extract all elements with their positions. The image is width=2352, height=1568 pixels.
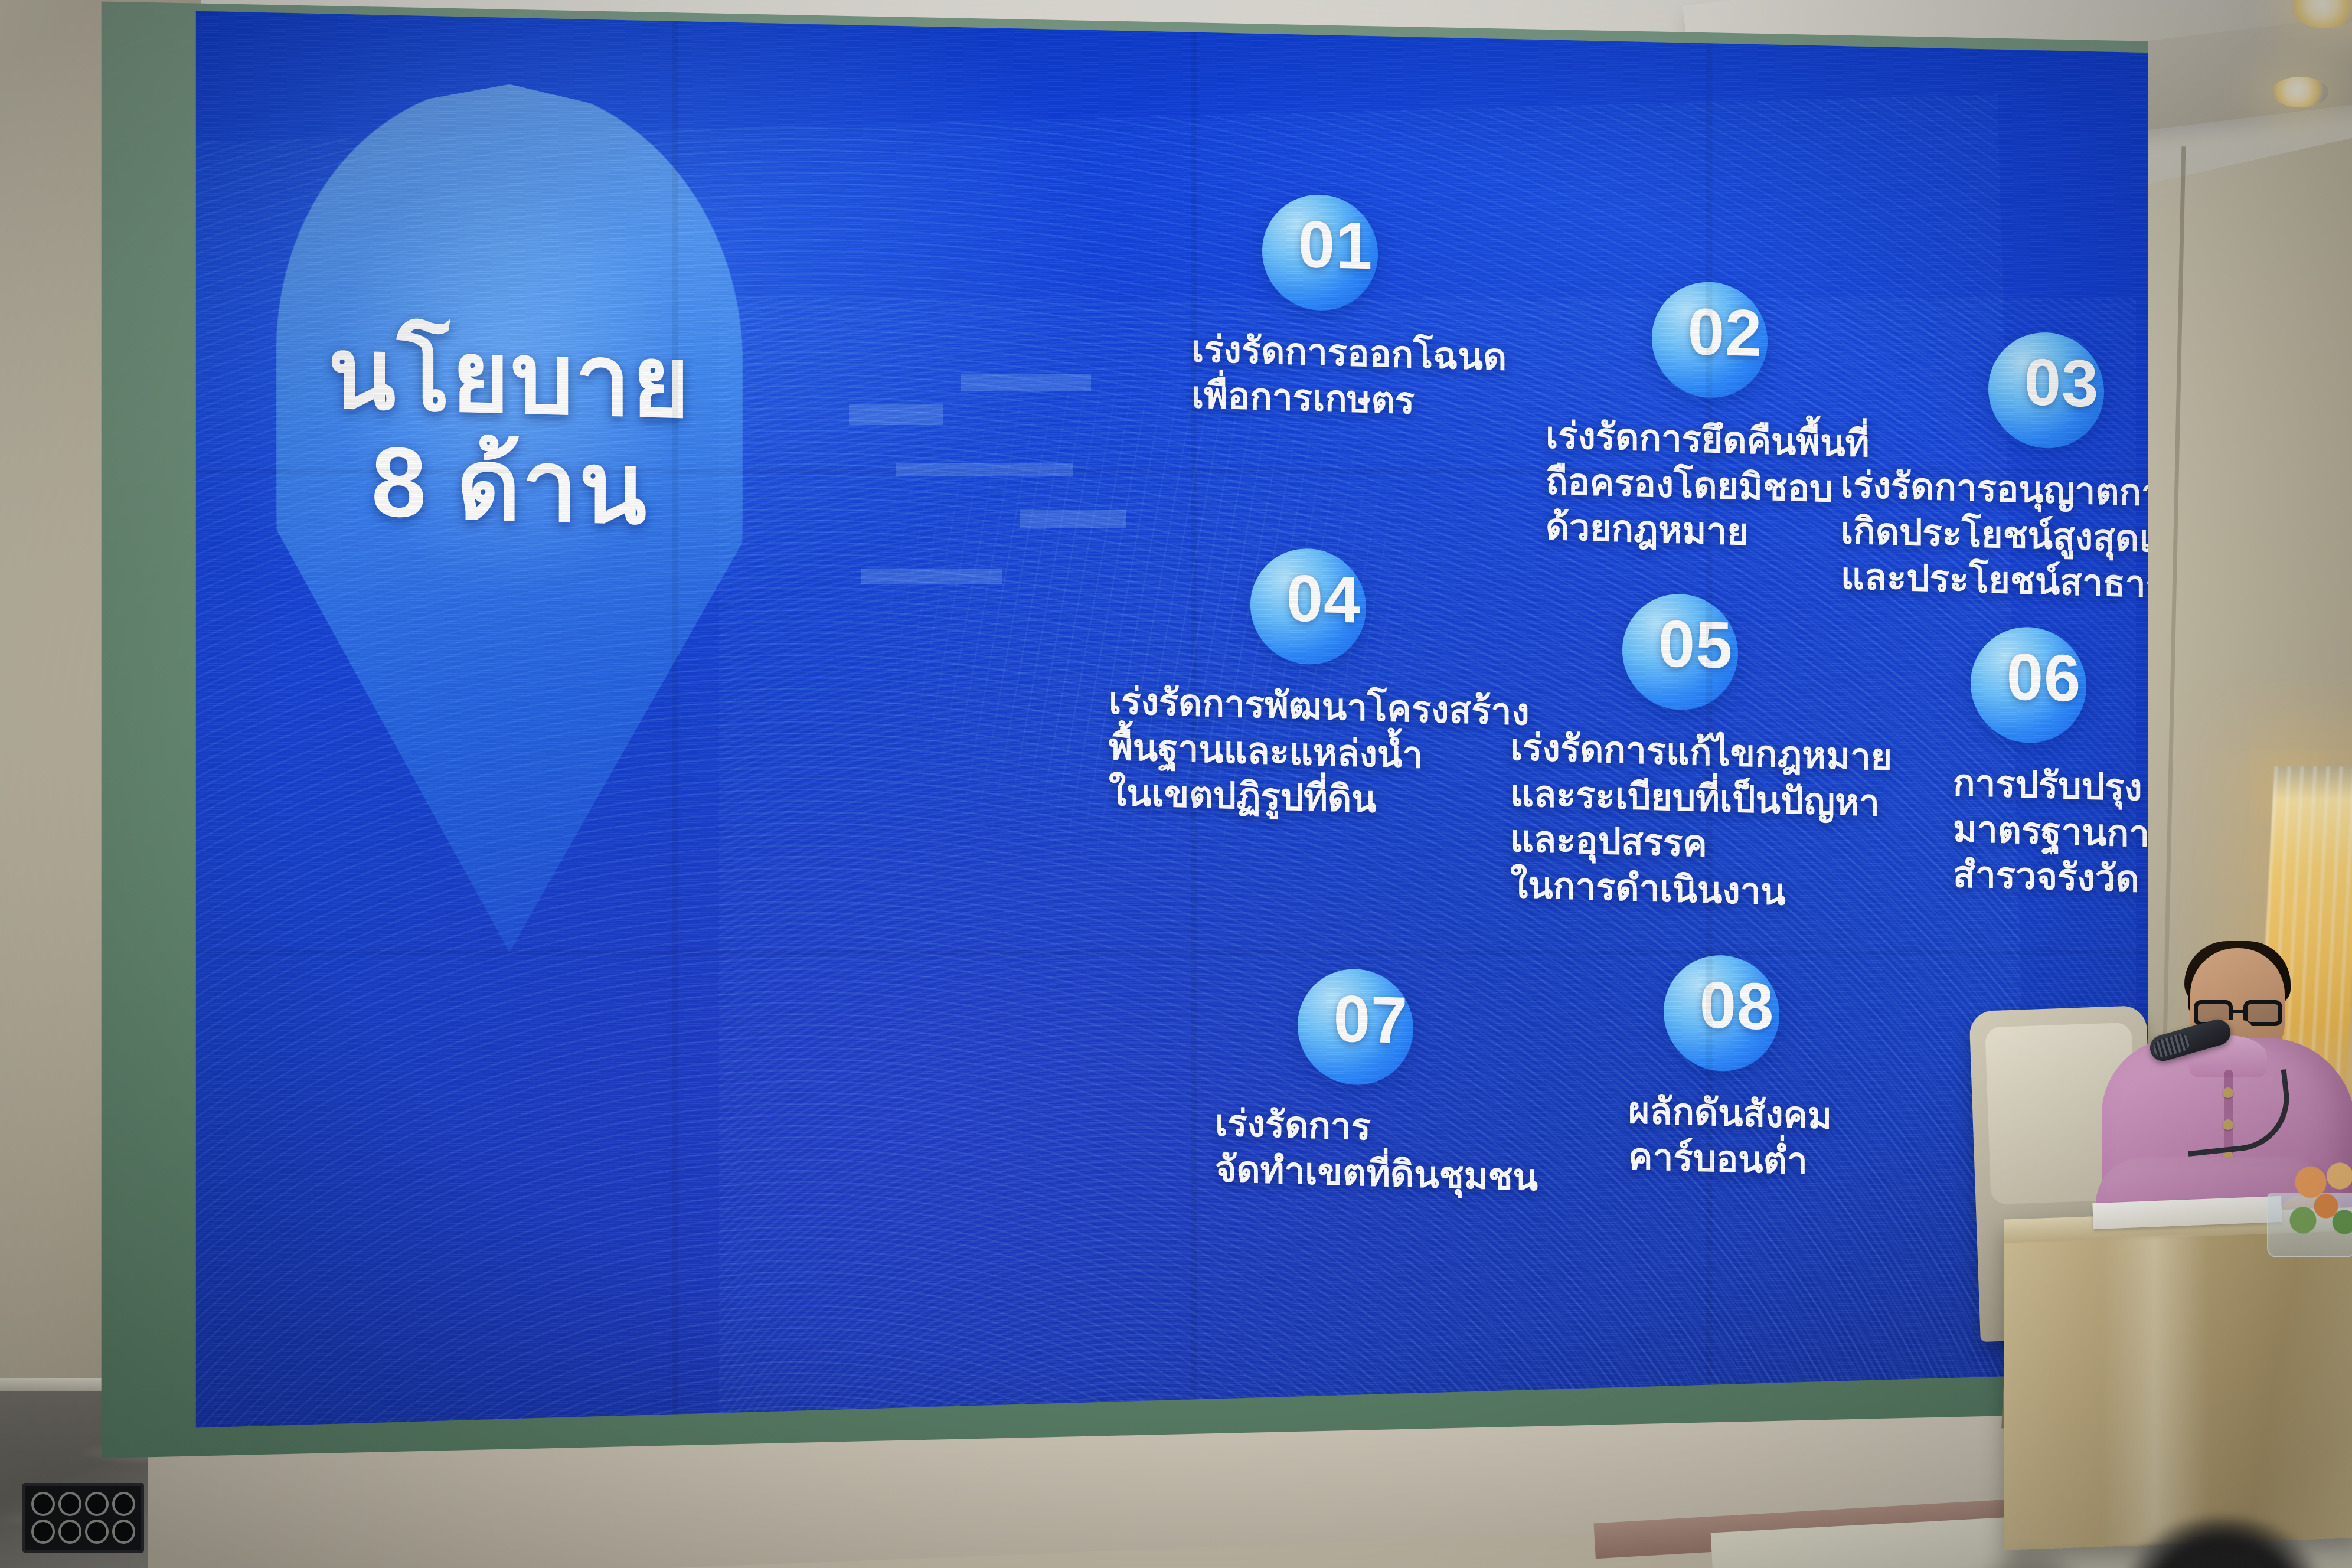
policy-text-05: เร่งรัดการแก้ไขกฎหมาย และระเบียบที่เป็นป… [1510, 726, 1892, 918]
policy-text-07: เร่งรัดการ จัดทำเขตที่ดินชุมชน [1215, 1101, 1538, 1200]
policy-text-04: เร่งรัดการพัฒนาโครงสร้าง พื้นฐานและแหล่ง… [1109, 679, 1530, 827]
policy-text-line: ด้วยกฎหมาย [1546, 505, 1870, 558]
policy-item-05: 05 เร่งรัดการแก้ไขกฎหมาย และระเบียบที่เป… [1622, 593, 1892, 918]
policy-number-bubble: 08 [1664, 954, 1779, 1073]
policy-number-bubble: 07 [1298, 968, 1413, 1086]
policy-item-04: 04 เร่งรัดการพัฒนาโครงสร้าง พื้นฐานและแห… [1250, 547, 1530, 827]
policy-text-line: การปรับปรุง [1953, 761, 2169, 812]
connector-port[interactable] [112, 1492, 136, 1516]
connector-port[interactable] [85, 1492, 109, 1516]
slide-title-line1: นโยบาย [276, 320, 743, 436]
policy-number-label: 07 [1334, 980, 1409, 1058]
policy-text-02: เร่งรัดการยึดคืนพื้นที่ ถือครองโดยมิชอบ … [1546, 413, 1870, 558]
policy-number-bubble: 01 [1262, 193, 1378, 312]
policy-text-06: การปรับปรุง มาตรฐานการ สำรวจรังวัด [1953, 761, 2169, 903]
policy-text-line: เร่งรัดการยึดคืนพื้นที่ [1546, 413, 1870, 466]
slide-title: นโยบาย 8 ด้าน [276, 320, 743, 547]
policy-number-bubble: 03 [1988, 331, 2104, 450]
policy-text-line: เร่งรัดการ [1215, 1101, 1538, 1154]
policy-number-bubble: 02 [1652, 280, 1768, 399]
flower-arrangement [2288, 1151, 2352, 1240]
policy-text-line: มาตรฐานการ [1953, 807, 2169, 858]
led-screen-frame: นโยบาย 8 ด้าน 01 เร่งรัดการออกโฉนด เพื่อ… [83, 0, 2161, 1464]
policy-text-line: คาร์บอนต่ำ [1628, 1135, 1832, 1185]
policy-text-line: ผลักดันสังคม [1628, 1089, 1832, 1139]
policy-text-08: ผลักดันสังคม คาร์บอนต่ำ [1628, 1089, 1832, 1185]
policy-number-label: 02 [1688, 293, 1763, 371]
policy-number-label: 03 [2024, 344, 2099, 422]
policy-text-line: เพื่อการเกษตร [1191, 373, 1507, 426]
conference-room-scene: นโยบาย 8 ด้าน 01 เร่งรัดการออกโฉนด เพื่อ… [0, 0, 2352, 1568]
connector-port[interactable] [58, 1492, 82, 1516]
policy-text-01: เร่งรัดการออกโฉนด เพื่อการเกษตร [1191, 327, 1507, 426]
policy-text-line: และอุปสรรค [1510, 817, 1892, 872]
policy-text-line: ถือครองโดยมิชอบ [1546, 459, 1870, 512]
policy-number-bubble: 04 [1250, 547, 1366, 666]
policy-number-bubble: 05 [1622, 593, 1738, 711]
connector-port[interactable] [85, 1520, 109, 1544]
policy-text-line: เร่งรัดการแก้ไขกฎหมาย [1510, 726, 1892, 780]
policy-number-label: 01 [1298, 205, 1373, 283]
led-screen[interactable]: นโยบาย 8 ด้าน 01 เร่งรัดการออกโฉนด เพื่อ… [188, 2, 2223, 1439]
connector-port[interactable] [58, 1520, 82, 1544]
policy-number-label: 06 [2007, 638, 2082, 716]
connector-port[interactable] [31, 1492, 55, 1516]
table-cloth-sheen [2102, 1235, 2208, 1546]
policy-item-02: 02 เร่งรัดการยึดคืนพื้นที่ ถือครองโดยมิช… [1652, 280, 1870, 558]
policy-text-line: ในการดำเนินงาน [1510, 863, 1892, 917]
policy-number-bubble: 06 [1971, 626, 2086, 744]
presentation-slide: นโยบาย 8 ด้าน 01 เร่งรัดการออกโฉนด เพื่อ… [188, 2, 2223, 1439]
connector-port[interactable] [31, 1520, 55, 1544]
policy-item-07: 07 เร่งรัดการ จัดทำเขตที่ดินชุมชน [1298, 968, 1538, 1200]
policy-text-line: จัดทำเขตที่ดินชุมชน [1215, 1147, 1538, 1200]
slide-title-line2: 8 ด้าน [276, 423, 743, 547]
policy-number-label: 05 [1658, 605, 1733, 683]
policy-text-line: สำรวจรังวัด [1953, 852, 2169, 903]
policy-text-line: เร่งรัดการออกโฉนด [1191, 327, 1507, 380]
policy-item-06: 06 การปรับปรุง มาตรฐานการ สำรวจรังวัด [1971, 626, 2169, 903]
wall-connector-panel[interactable] [22, 1483, 144, 1553]
connector-port[interactable] [112, 1520, 136, 1544]
ceiling-downlight-icon [2272, 77, 2328, 107]
policy-text-line: และระเบียบที่เป็นปัญหา [1510, 771, 1892, 826]
policy-item-08: 08 ผลักดันสังคม คาร์บอนต่ำ [1664, 954, 1832, 1185]
policy-item-01: 01 เร่งรัดการออกโฉนด เพื่อการเกษตร [1262, 193, 1507, 426]
foreground-audience-head [1966, 1550, 2096, 1568]
policy-number-label: 04 [1286, 560, 1361, 638]
policy-number-label: 08 [1700, 966, 1775, 1044]
